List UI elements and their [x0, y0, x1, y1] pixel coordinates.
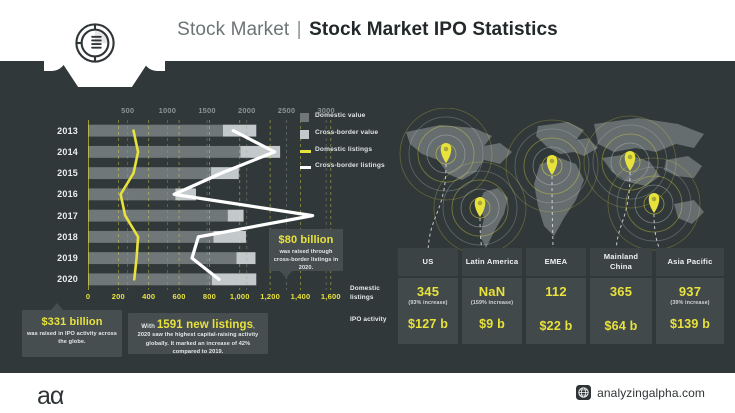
cell-domestic-listings: 112 — [526, 285, 586, 298]
axis-bottom-tick: 800 — [203, 292, 216, 301]
cell-domestic-listings: 937 — [656, 285, 724, 298]
chart-year-labels: 20132014201520162017201820192020 — [22, 120, 84, 290]
row-label-ipo-activity: IPO activity — [350, 315, 387, 324]
callout-prefix: With — [141, 323, 157, 330]
pin-center-dot — [444, 147, 449, 152]
column-header: Latin America — [462, 248, 522, 276]
row-label-domestic-listings: Domestic listings — [350, 284, 396, 303]
bar-cross-border-value — [228, 210, 244, 222]
axis-top-tick: 1000 — [159, 106, 177, 115]
legend-label: Cross-border listings — [315, 162, 385, 171]
legend-item: Cross-border value — [300, 129, 410, 139]
pin-center-dot — [478, 201, 483, 206]
table-column-latin-america[interactable]: Latin AmericaNaN(159% increase)$9 b — [462, 248, 522, 344]
axis-bottom-tick: 1,400 — [291, 292, 311, 301]
legend-item: Domestic listings — [300, 146, 410, 155]
bar-domestic-value — [88, 188, 175, 200]
column-header: Asia Pacific — [656, 248, 724, 276]
map-landmass — [406, 125, 512, 180]
axis-bottom-tick: 1,200 — [260, 292, 280, 301]
table-column-emea[interactable]: EMEA112$22 b — [526, 248, 586, 344]
cell-domestic-listings: 365 — [590, 285, 652, 298]
legend-label: Cross-border value — [315, 129, 378, 138]
cell-domestic-listings: NaN — [462, 285, 522, 298]
footer-attribution[interactable]: analyzingalpha.com — [576, 385, 705, 400]
callout-highlight: 1591 new listings — [157, 319, 253, 331]
title-main: Stock Market IPO Statistics — [309, 19, 558, 40]
title-separator: | — [295, 19, 304, 40]
title-category: Stock Market — [177, 19, 289, 40]
table-column-asia-pacific[interactable]: Asia Pacific937(39% increase)$139 b — [656, 248, 724, 344]
column-body: 112$22 b — [526, 278, 586, 344]
callout-body: was raised in IPO activity across the gl… — [26, 330, 118, 346]
axis-top-tick: 500 — [121, 106, 134, 115]
bar-domestic-value — [88, 167, 211, 179]
map-landmass — [664, 156, 702, 178]
world-map — [388, 108, 728, 258]
cell-increase-note: (93% increase) — [398, 300, 458, 306]
table-column-mainland-china[interactable]: Mainland China365$64 b — [590, 248, 652, 344]
column-body: 365$64 b — [590, 278, 652, 344]
column-body: 937(39% increase)$139 b — [656, 278, 724, 344]
axis-bottom-tick: 0 — [86, 292, 90, 301]
brand-mark: aα — [37, 382, 63, 411]
axis-bottom-tick: 600 — [172, 292, 185, 301]
chart-year-label: 2015 — [57, 168, 78, 178]
chart-year-label: 2020 — [57, 274, 78, 284]
donut-chart-logo-icon — [74, 22, 116, 64]
infographic-root: Stock Market | Stock Market IPO Statisti… — [0, 0, 735, 413]
bar-domestic-value — [88, 231, 213, 243]
axis-bottom-tick: 400 — [142, 292, 155, 301]
legend-label: Domestic listings — [315, 146, 372, 155]
map-landmass — [534, 158, 584, 236]
chart-year-label: 2014 — [57, 147, 78, 157]
legend-item: Domestic value — [300, 112, 410, 122]
chart-year-label: 2018 — [57, 232, 78, 242]
axis-bottom-tick: 200 — [112, 292, 125, 301]
pin-center-dot — [652, 197, 657, 202]
column-body: NaN(159% increase)$9 b — [462, 278, 522, 344]
bar-domestic-value — [88, 125, 223, 137]
axis-bottom-tick: 1,000 — [230, 292, 250, 301]
legend-item: Cross-border listings — [300, 162, 410, 171]
axis-top-tick: 1500 — [198, 106, 216, 115]
cell-ipo-activity: $127 b — [398, 317, 458, 331]
table-column-us[interactable]: US345(93% increase)$127 b — [398, 248, 458, 344]
callout-new-listings: With 1591 new listings, 2020 saw the hig… — [128, 313, 268, 354]
cell-increase-note — [590, 300, 652, 308]
bar-domestic-value — [88, 146, 240, 158]
legend-swatch-icon — [300, 113, 309, 122]
cell-ipo-activity: $64 b — [590, 319, 652, 333]
legend-label: Domestic value — [315, 112, 365, 121]
axis-bottom-tick: 1,600 — [321, 292, 341, 301]
pin-center-dot — [550, 159, 555, 164]
axis-top-tick: 2000 — [238, 106, 256, 115]
cell-increase-note — [526, 300, 586, 308]
callout-headline: $80 billion — [273, 234, 339, 246]
chart-axis-bottom: 02004006008001,0001,2001,4001,600 — [88, 292, 346, 305]
chart-legend: Domestic valueCross-border valueDomestic… — [300, 112, 410, 178]
location-pin-icon — [649, 193, 660, 213]
callout-headline: $331 billion — [26, 316, 118, 328]
site-url: analyzingalpha.com — [597, 386, 705, 400]
pin-center-dot — [628, 155, 633, 160]
legend-line-icon — [300, 150, 311, 153]
globe-icon — [576, 385, 591, 400]
callout-global-ipo-value: $331 billion was raised in IPO activity … — [22, 310, 122, 357]
cell-ipo-activity: $139 b — [656, 317, 724, 331]
column-header: US — [398, 248, 458, 276]
bar-domestic-value — [88, 273, 212, 285]
legend-line-icon — [300, 166, 311, 169]
cell-increase-note: (159% increase) — [462, 300, 522, 306]
axis-top-tick: 2500 — [278, 106, 296, 115]
cell-ipo-activity: $22 b — [526, 319, 586, 333]
chart-year-label: 2013 — [57, 126, 78, 136]
cell-domestic-listings: 345 — [398, 285, 458, 298]
callout-listings-line: With 1591 new listings, 2020 saw the hig… — [134, 319, 262, 357]
chart-year-label: 2016 — [57, 189, 78, 199]
legend-swatch-icon — [300, 130, 309, 139]
column-header: Mainland China — [590, 248, 652, 276]
callout-cross-border-value: $80 billion was raised through cross-bor… — [269, 229, 343, 271]
regions-table: Domestic listings IPO activity US345(93%… — [348, 248, 728, 353]
map-pin-latin-america — [434, 162, 526, 258]
cell-increase-note: (39% increase) — [656, 300, 724, 306]
column-header: EMEA — [526, 248, 586, 276]
cell-ipo-activity: $9 b — [462, 317, 522, 331]
chart-year-label: 2017 — [57, 211, 78, 221]
footer-bar: aα analyzingalpha.com — [0, 373, 735, 413]
map-landmass — [594, 118, 704, 152]
chart-year-label: 2019 — [57, 253, 78, 263]
bar-domestic-value — [88, 252, 236, 264]
bar-cross-border-value — [236, 252, 255, 264]
callout-body: was raised through cross-border listings… — [273, 248, 339, 272]
column-body: 345(93% increase)$127 b — [398, 278, 458, 344]
